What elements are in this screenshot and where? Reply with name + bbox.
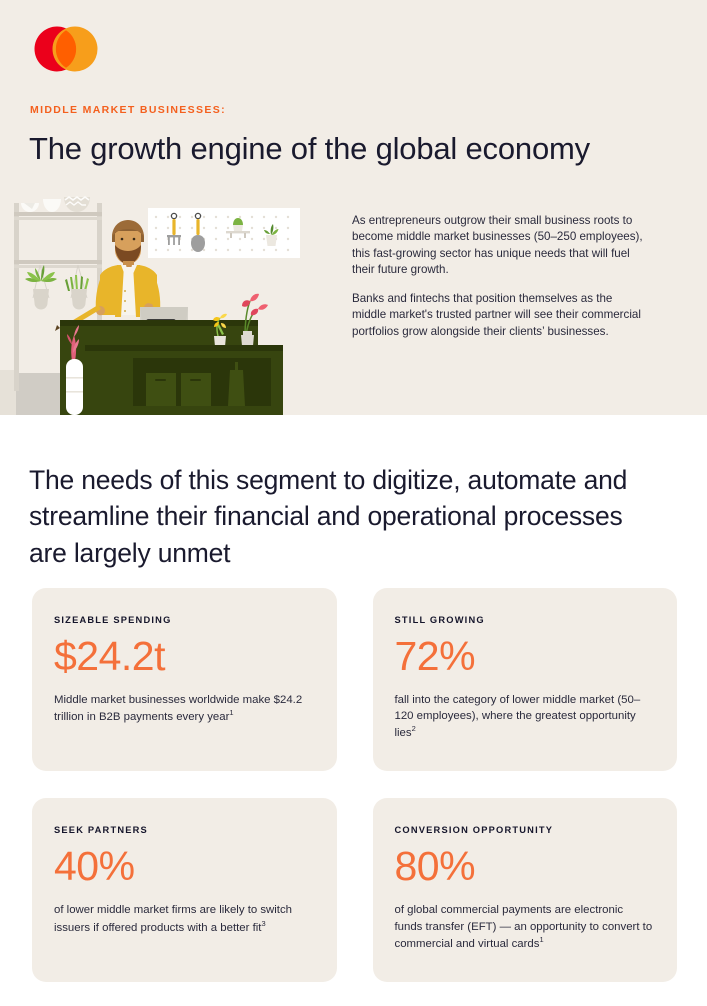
stat-card-footnote: 1 xyxy=(229,708,233,717)
page-title: The growth engine of the global economy xyxy=(29,130,669,167)
plant-foliage-right xyxy=(65,275,89,291)
stat-card-description-text: fall into the category of lower middle m… xyxy=(395,694,641,739)
garden-shop-illustration xyxy=(0,195,330,415)
button xyxy=(124,300,126,302)
hero-section: MIDDLE MARKET BUSINESSES: The growth eng… xyxy=(0,0,707,415)
stat-card-description: fall into the category of lower middle m… xyxy=(395,692,654,741)
counter-back-top xyxy=(60,320,258,326)
stat-card-value: $24.2t xyxy=(54,635,313,678)
hero-paragraph-2: Banks and fintechs that position themsel… xyxy=(352,291,644,340)
hanging-planter-right xyxy=(65,265,89,310)
stat-card-still-growing[interactable]: STILL GROWING 72% fall into the category… xyxy=(373,588,678,771)
infographic-page: MIDDLE MARKET BUSINESSES: The growth eng… xyxy=(0,0,707,1006)
zigzag-pot xyxy=(64,197,90,212)
stat-card-value: 80% xyxy=(395,845,654,888)
button xyxy=(124,290,126,292)
stat-card-seek-partners[interactable]: SEEK PARTNERS 40% of lower middle market… xyxy=(32,798,337,981)
stat-cards-row-1: SIZEABLE SPENDING $24.2t Middle market b… xyxy=(32,588,677,771)
stat-card-description-text: Middle market businesses worldwide make … xyxy=(54,694,302,723)
counter-box-1 xyxy=(146,373,176,406)
section-title: The needs of this segment to digitize, a… xyxy=(29,462,629,571)
stat-card-label: CONVERSION OPPORTUNITY xyxy=(395,825,654,835)
hanging-planter-left xyxy=(25,265,57,310)
stat-card-label: SIZEABLE SPENDING xyxy=(54,615,313,625)
stat-card-description: of lower middle market firms are likely … xyxy=(54,902,313,935)
stat-card-description-text: of lower middle market firms are likely … xyxy=(54,904,292,933)
stat-card-footnote: 1 xyxy=(539,935,543,944)
mastercard-logo[interactable] xyxy=(30,26,102,72)
eye-right xyxy=(133,238,136,241)
stat-cards-row-2: SEEK PARTNERS 40% of lower middle market… xyxy=(32,798,677,981)
stat-card-sizeable-spending[interactable]: SIZEABLE SPENDING $24.2t Middle market b… xyxy=(32,588,337,771)
stat-card-footnote: 2 xyxy=(412,724,416,733)
pegboard xyxy=(148,208,300,258)
stat-card-description-text: of global commercial payments are electr… xyxy=(395,904,653,949)
counter-box-2 xyxy=(181,373,211,406)
stat-card-label: STILL GROWING xyxy=(395,615,654,625)
floor-edge xyxy=(0,370,16,415)
counter-front-top xyxy=(85,345,283,351)
stat-card-description: Middle market businesses worldwide make … xyxy=(54,692,313,725)
stat-cards: SIZEABLE SPENDING $24.2t Middle market b… xyxy=(32,588,677,982)
hero-copy: As entrepreneurs outgrow their small bus… xyxy=(352,213,644,340)
stat-card-value: 40% xyxy=(54,845,313,888)
stat-card-value: 72% xyxy=(395,635,654,678)
mastercard-logo-svg xyxy=(30,26,102,72)
stat-card-footnote: 3 xyxy=(261,919,265,928)
hero-eyebrow: MIDDLE MARKET BUSINESSES: xyxy=(30,104,226,116)
button xyxy=(124,310,126,312)
hero-paragraph-1: As entrepreneurs outgrow their small bus… xyxy=(352,213,644,279)
stat-card-label: SEEK PARTNERS xyxy=(54,825,313,835)
stat-card-description: of global commercial payments are electr… xyxy=(395,902,654,951)
eye-left xyxy=(121,238,124,241)
bowls xyxy=(21,199,61,212)
stat-card-conversion-opportunity[interactable]: CONVERSION OPPORTUNITY 80% of global com… xyxy=(373,798,678,981)
